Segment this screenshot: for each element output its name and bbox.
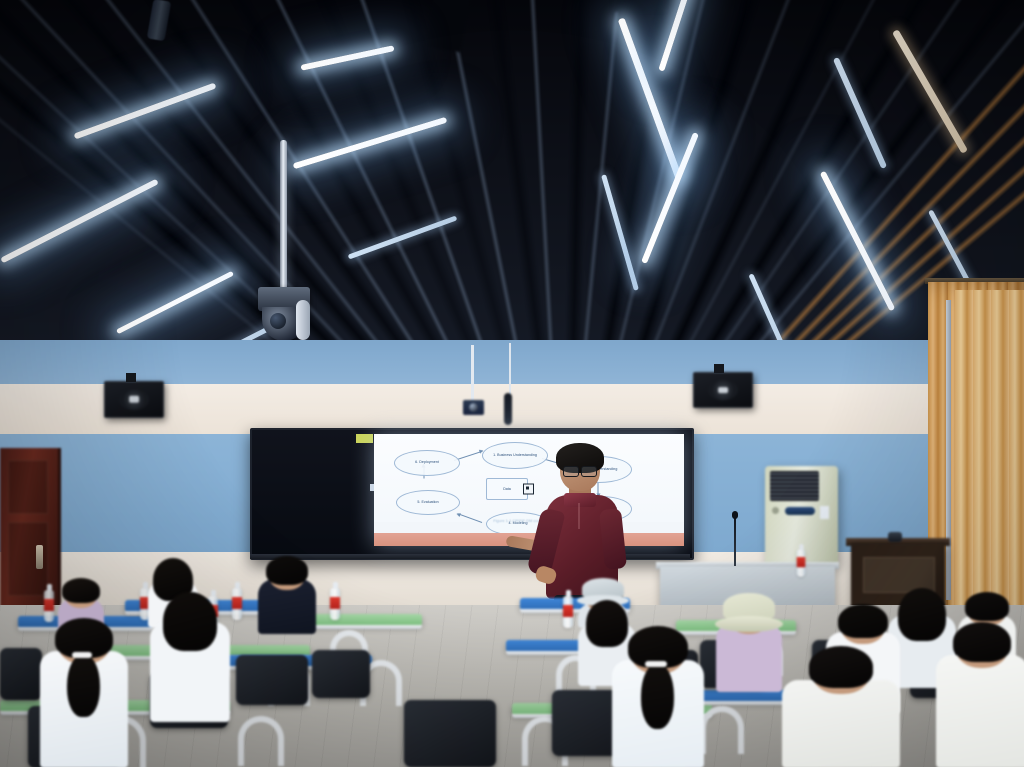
camera-drop-pole (280, 140, 287, 290)
ac-label-sticker (820, 506, 829, 519)
student-hair (809, 646, 873, 688)
ac-vent-grille-icon (770, 471, 819, 501)
speaker-mount (714, 364, 724, 373)
student (716, 596, 782, 692)
ceiling-light-tube (116, 271, 234, 334)
presenter-placket (578, 503, 580, 529)
wall-speaker-right (693, 372, 753, 408)
ceiling-beam (612, 0, 666, 12)
student-hair (163, 592, 217, 651)
hair-tie (72, 652, 93, 658)
slide-corner-marker (356, 434, 373, 443)
camera-side-housing (296, 300, 310, 340)
desk-row2-center[interactable] (312, 614, 422, 630)
student (150, 592, 230, 722)
hair-tie (645, 661, 667, 667)
student-hair (953, 622, 1011, 662)
student-ponytail (67, 654, 99, 717)
slide-data-label: Data (503, 487, 511, 491)
door-handle[interactable] (36, 545, 43, 569)
door-panel (8, 460, 48, 514)
ac-power-button[interactable] (772, 507, 779, 514)
student (258, 556, 316, 634)
window-curtain-panel[interactable] (955, 290, 1024, 638)
student-torso (936, 655, 1024, 767)
bottle-label (563, 605, 573, 617)
student-hair (838, 604, 888, 638)
slide-node-deployment: 6. Deployment (394, 450, 460, 476)
student (782, 646, 900, 767)
student-ponytail (641, 663, 674, 729)
microphone-wire (509, 343, 511, 395)
student-hair (266, 556, 308, 585)
slide-node-evaluation: 5. Evaluation (396, 490, 460, 515)
classroom-photo: 1. Business Understanding2. Data Underst… (0, 0, 1024, 767)
database-icon (523, 484, 534, 495)
speaker-mount (126, 373, 136, 382)
slide-caption: Figure 1-1 CRISP-DM conceptual Model (374, 518, 684, 523)
ceiling-beam (426, 0, 471, 52)
bottle-label (797, 557, 806, 567)
wall-band-upper-blue (0, 340, 1024, 384)
chair[interactable] (404, 700, 496, 767)
lectern-equipment (888, 532, 902, 542)
chair[interactable] (0, 648, 42, 700)
water-bottle[interactable] (330, 588, 340, 620)
bottle-label (232, 597, 242, 609)
camera-arm (471, 345, 474, 401)
water-bottle[interactable] (563, 596, 573, 628)
student-hair (62, 578, 100, 603)
water-bottle[interactable] (797, 549, 806, 576)
projected-slide: 1. Business Understanding2. Data Underst… (374, 434, 684, 546)
desk-edge (312, 625, 422, 629)
water-bottle[interactable] (232, 588, 242, 620)
ceiling-light-tube (0, 179, 159, 264)
chair[interactable] (236, 655, 308, 705)
wall-speaker-left (104, 381, 164, 418)
student-hair (965, 592, 1009, 621)
speaker-grille-icon (119, 389, 149, 411)
bottle-label (44, 599, 54, 611)
chair[interactable] (312, 650, 370, 698)
desk-leg (700, 706, 744, 754)
classroom-door[interactable] (0, 448, 61, 608)
student (936, 622, 1024, 767)
presenter-collar (564, 493, 596, 507)
eyeglasses-icon (563, 466, 597, 475)
slide-data-box: Data (486, 478, 528, 500)
desk-leg (238, 716, 284, 766)
ceiling (0, 0, 1024, 372)
speaker-grille-icon (708, 379, 738, 400)
bottle-label (330, 597, 340, 609)
student (612, 626, 704, 767)
podium-microphone-icon (734, 516, 736, 566)
ac-brand-logo (785, 507, 815, 515)
lecture-capture-camera-icon (463, 400, 484, 415)
hanging-microphone-icon (504, 393, 512, 425)
student (40, 618, 128, 767)
window-frame (946, 300, 951, 600)
